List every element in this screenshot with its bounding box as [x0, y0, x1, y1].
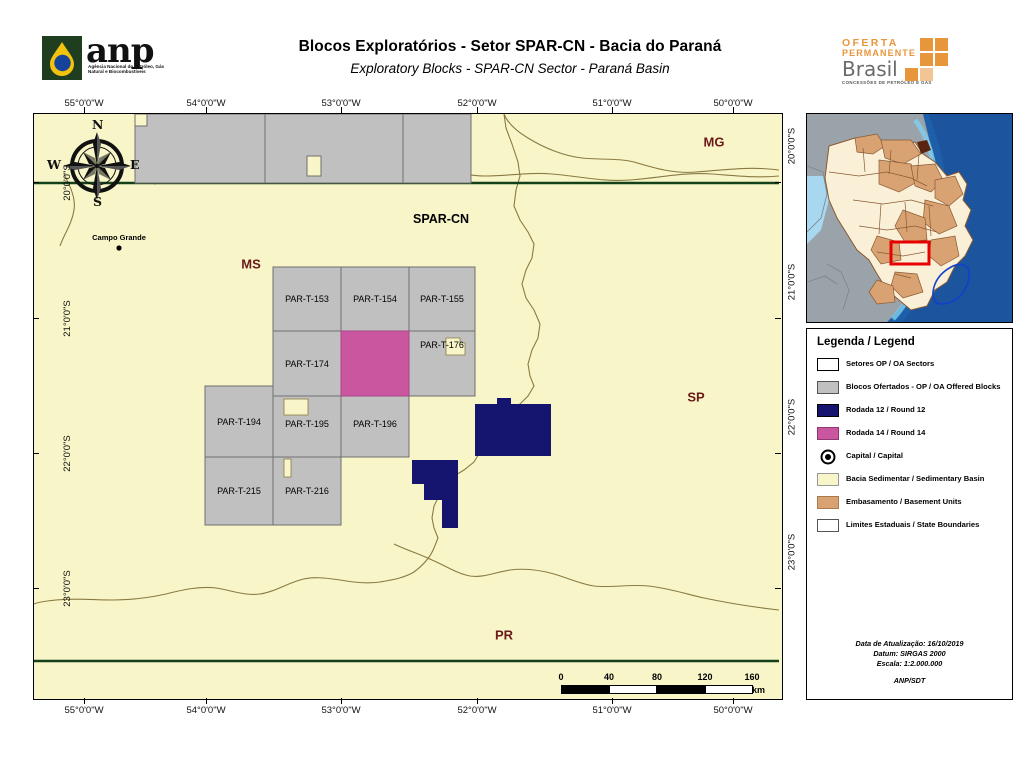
scale-tick-label: 80	[652, 672, 662, 682]
lat-label-left: 20°0'0"S	[62, 164, 73, 200]
credits-update-date: Data de Atualização: 16/10/2019	[856, 639, 964, 648]
scale-segment	[609, 685, 657, 694]
legend-label: Rodada 12 / Round 12	[846, 405, 925, 414]
lon-tick	[206, 107, 207, 113]
block-label: PAR-T-216	[285, 486, 329, 496]
oferta-square-icon	[935, 53, 948, 66]
lat-tick	[33, 588, 39, 589]
lat-tick	[775, 588, 781, 589]
lon-label-bottom: 52°0'0"W	[457, 705, 496, 716]
oferta-square-icon	[920, 38, 933, 51]
lon-label-bottom: 53°0'0"W	[321, 705, 360, 716]
sector-name-label: SPAR-CN	[413, 212, 469, 226]
map-credits: Data de Atualização: 16/10/2019 Datum: S…	[807, 639, 1012, 686]
basin-swatch	[817, 473, 839, 486]
lat-label-right: 20°0'0"S	[787, 128, 798, 164]
scale-tick-label: 0	[558, 672, 563, 682]
scale-segment	[585, 685, 609, 694]
map-title-en: Exploratory Blocks - SPAR-CN Sector - Pa…	[230, 61, 790, 76]
lat-tick	[775, 182, 781, 183]
lon-tick	[477, 107, 478, 113]
scale-segment	[705, 685, 753, 694]
lon-tick	[84, 698, 85, 704]
state-label-ms: MS	[241, 257, 261, 272]
basement-swatch	[817, 496, 839, 509]
scale-tick-label: 160	[744, 672, 759, 682]
round14-swatch	[817, 427, 839, 440]
lon-tick	[733, 698, 734, 704]
offered-block-swatch	[817, 381, 839, 394]
locator-inset-map[interactable]	[806, 113, 1013, 323]
legend-label: Blocos Ofertados - OP / OA Offered Block…	[846, 382, 1000, 391]
lon-tick	[477, 698, 478, 704]
scale-segment	[657, 685, 705, 694]
anp-subtitle: Agência Nacional do Petróleo, Gás Natura…	[88, 64, 178, 75]
map-title-block: Blocos Exploratórios - Setor SPAR-CN - B…	[230, 38, 790, 76]
lat-label-left: 23°0'0"S	[62, 570, 73, 606]
lon-tick	[341, 107, 342, 113]
compass-north-label: N	[92, 117, 103, 132]
capital-swatch	[820, 449, 836, 470]
scale-bar: 0 40 80 120 160 km	[556, 672, 771, 698]
capital-icon	[820, 449, 836, 465]
block-label: PAR-T-155	[420, 294, 464, 304]
brazil-inset-svg	[807, 114, 1012, 322]
oferta-square-icon	[905, 68, 918, 81]
map-canvas	[34, 114, 779, 696]
lon-tick	[206, 698, 207, 704]
main-map[interactable]: PAR-T-153 PAR-T-154 PAR-T-155 PAR-T-174 …	[33, 113, 783, 700]
lon-label-bottom: 50°0'0"W	[713, 705, 752, 716]
scale-segment	[561, 685, 585, 694]
block-label: PAR-T-195	[285, 419, 329, 429]
lon-tick	[733, 107, 734, 113]
anp-wordmark: anp	[86, 34, 154, 68]
legend-label: Setores OP / OA Sectors	[846, 359, 934, 368]
scale-unit-label: km	[752, 685, 765, 695]
legend-panel: Legenda / Legend Setores OP / OA Sectors…	[806, 328, 1013, 700]
anp-drop-svg	[42, 36, 82, 80]
lon-tick	[84, 107, 85, 113]
lon-label-bottom: 54°0'0"W	[186, 705, 225, 716]
lon-label-bottom: 55°0'0"W	[64, 705, 103, 716]
legend-label: Embasamento / Basement Units	[846, 497, 962, 506]
brasil-text: Brasil	[842, 57, 898, 81]
block-label: PAR-T-153	[285, 294, 329, 304]
block-label: PAR-T-176	[420, 340, 464, 350]
state-label-sp: SP	[687, 390, 704, 405]
lon-tick	[341, 698, 342, 704]
lat-label-left: 22°0'0"S	[62, 435, 73, 471]
anp-drop-icon	[42, 36, 82, 80]
credits-source: ANP/SDT	[894, 676, 926, 685]
compass-south-label: S	[93, 194, 102, 209]
page-header: anp Agência Nacional do Petróleo, Gás Na…	[0, 0, 1024, 100]
scale-tick-label: 120	[697, 672, 712, 682]
legend-title: Legenda / Legend	[817, 336, 915, 348]
lon-label-bottom: 51°0'0"W	[592, 705, 631, 716]
lat-tick	[775, 318, 781, 319]
lat-tick	[775, 453, 781, 454]
lat-tick	[33, 182, 39, 183]
block-label: PAR-T-196	[353, 419, 397, 429]
legend-label: Capital / Capital	[846, 451, 903, 460]
compass-west-label: W	[47, 157, 61, 172]
block-label: PAR-T-194	[217, 417, 261, 427]
capital-city-label: Campo Grande	[92, 233, 146, 242]
lat-label-right: 21°0'0"S	[787, 264, 798, 300]
credits-scale: Escala: 1:2.000.000	[877, 659, 943, 668]
block-label: PAR-T-154	[353, 294, 397, 304]
lat-label-left: 21°0'0"S	[62, 300, 73, 336]
legend-label: Rodada 14 / Round 14	[846, 428, 925, 437]
lat-label-right: 22°0'0"S	[787, 399, 798, 435]
state-label-pr: PR	[495, 628, 513, 643]
lat-tick	[33, 318, 39, 319]
lon-tick	[612, 698, 613, 704]
oferta-square-icon	[920, 53, 933, 66]
lat-tick	[33, 453, 39, 454]
compass-east-label: E	[130, 157, 140, 172]
round12-swatch	[817, 404, 839, 417]
oferta-subtitle: CONCESSÕES DE PETRÓLEO E GÁS	[842, 80, 932, 85]
capital-symbol-campo-grande	[116, 245, 121, 250]
lat-label-right: 23°0'0"S	[787, 534, 798, 570]
block-label: PAR-T-174	[285, 359, 329, 369]
scale-tick-label: 40	[604, 672, 614, 682]
anp-logo: anp Agência Nacional do Petróleo, Gás Na…	[42, 36, 152, 82]
lon-tick	[612, 107, 613, 113]
state-label-mg: MG	[704, 135, 725, 150]
legend-label: Bacia Sedimentar / Sedimentary Basin	[846, 474, 984, 483]
legend-label: Limites Estaduais / State Boundaries	[846, 520, 979, 529]
oferta-permanente-logo: OFERTA PERMANENTE Brasil CONCESSÕES DE P…	[842, 36, 992, 88]
credits-datum: Datum: SIRGAS 2000	[873, 649, 945, 658]
oferta-square-icon	[935, 38, 948, 51]
round14-block	[341, 331, 409, 396]
state-boundaries-swatch	[817, 519, 839, 532]
map-title-pt: Blocos Exploratórios - Setor SPAR-CN - B…	[230, 38, 790, 56]
sector-swatch	[817, 358, 839, 371]
oferta-square-icon	[920, 68, 933, 81]
block-label: PAR-T-215	[217, 486, 261, 496]
